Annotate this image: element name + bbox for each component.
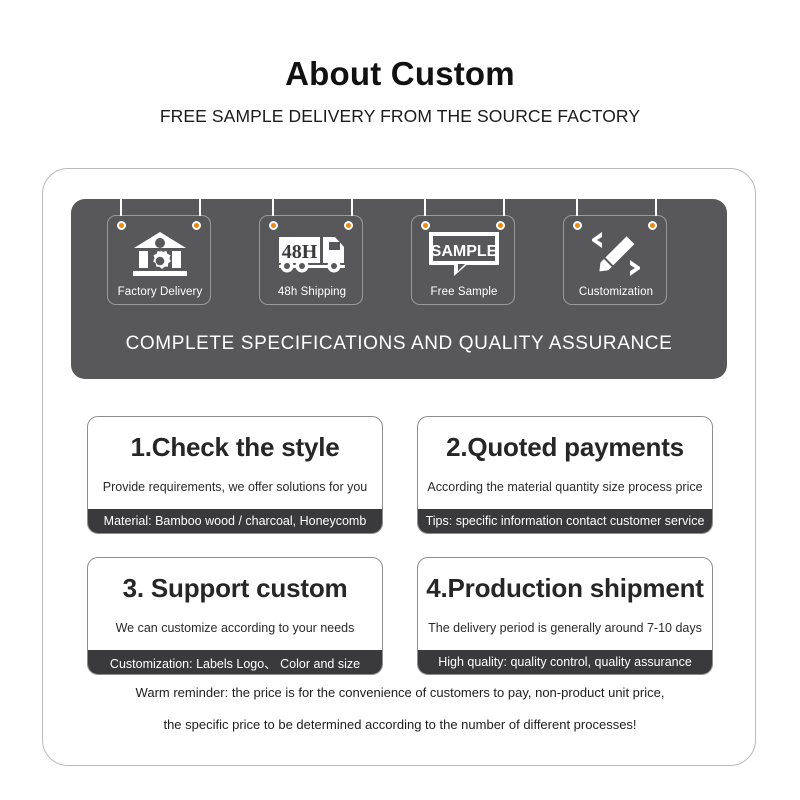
hanging-string — [424, 188, 426, 216]
pin-dot-icon — [117, 221, 126, 230]
pin-dot-icon — [421, 221, 430, 230]
step-card-2[interactable]: 2.Quoted payments According the material… — [417, 416, 713, 534]
svg-text:SAMPLE: SAMPLE — [431, 243, 498, 260]
step-title: 2.Quoted payments — [418, 432, 712, 463]
step-title: 3. Support custom — [88, 573, 382, 604]
truck-48h-icon: 48H — [260, 230, 364, 278]
step-footer-bar: Tips: specific information contact custo… — [418, 509, 712, 533]
sample-tag-icon: SAMPLE — [412, 230, 516, 278]
pin-dot-icon — [496, 221, 505, 230]
feature-card-label: Customization — [564, 286, 668, 298]
pin-dot-icon — [573, 221, 582, 230]
step-footer-bar: High quality: quality control, quality a… — [418, 650, 712, 674]
step-card-1[interactable]: 1.Check the style Provide requirements, … — [87, 416, 383, 534]
feature-card-customization[interactable]: Customization — [563, 215, 667, 305]
feature-panel: Factory Delivery 48H 48h Shippi — [71, 199, 727, 379]
page-header: About Custom FREE SAMPLE DELIVERY FROM T… — [0, 0, 800, 127]
step-footer-bar: Customization: Labels Logo、 Color and si… — [88, 650, 382, 674]
pin-dot-icon — [344, 221, 353, 230]
step-title: 4.Production shipment — [418, 573, 712, 604]
feature-card-factory-delivery[interactable]: Factory Delivery — [107, 215, 211, 305]
step-description: According the material quantity size pro… — [418, 480, 712, 494]
feature-card-free-sample[interactable]: SAMPLE Free Sample — [411, 215, 515, 305]
footer-note-line-1: Warm reminder: the price is for the conv… — [43, 685, 757, 700]
pin-dot-icon — [648, 221, 657, 230]
hanging-string — [272, 188, 274, 216]
hanging-string — [576, 188, 578, 216]
hanging-string — [503, 188, 505, 216]
step-description: Provide requirements, we offer solutions… — [88, 480, 382, 494]
step-description: The delivery period is generally around … — [418, 621, 712, 635]
content-container: Factory Delivery 48H 48h Shippi — [42, 168, 756, 766]
step-card-3[interactable]: 3. Support custom We can customize accor… — [87, 557, 383, 675]
pin-dot-icon — [269, 221, 278, 230]
step-description: We can customize according to your needs — [88, 621, 382, 635]
feature-card-label: 48h Shipping — [260, 286, 364, 298]
page-subtitle: FREE SAMPLE DELIVERY FROM THE SOURCE FAC… — [0, 92, 800, 127]
hanging-string — [199, 188, 201, 216]
feature-card-label: Free Sample — [412, 286, 516, 298]
feature-card-48h-shipping[interactable]: 48H 48h Shipping — [259, 215, 363, 305]
step-card-4[interactable]: 4.Production shipment The delivery perio… — [417, 557, 713, 675]
pencil-ruler-icon — [564, 230, 668, 278]
footer-note-line-2: the specific price to be determined acco… — [43, 717, 757, 732]
hanging-string — [351, 188, 353, 216]
feature-card-label: Factory Delivery — [108, 286, 212, 298]
step-title: 1.Check the style — [88, 432, 382, 463]
page-title: About Custom — [0, 0, 800, 92]
factory-gear-icon — [108, 230, 212, 278]
panel-banner-text: COMPLETE SPECIFICATIONS AND QUALITY ASSU… — [71, 333, 727, 355]
step-footer-bar: Material: Bamboo wood / charcoal, Honeyc… — [88, 509, 382, 533]
hanging-string — [120, 188, 122, 216]
hanging-string — [655, 188, 657, 216]
pin-dot-icon — [192, 221, 201, 230]
